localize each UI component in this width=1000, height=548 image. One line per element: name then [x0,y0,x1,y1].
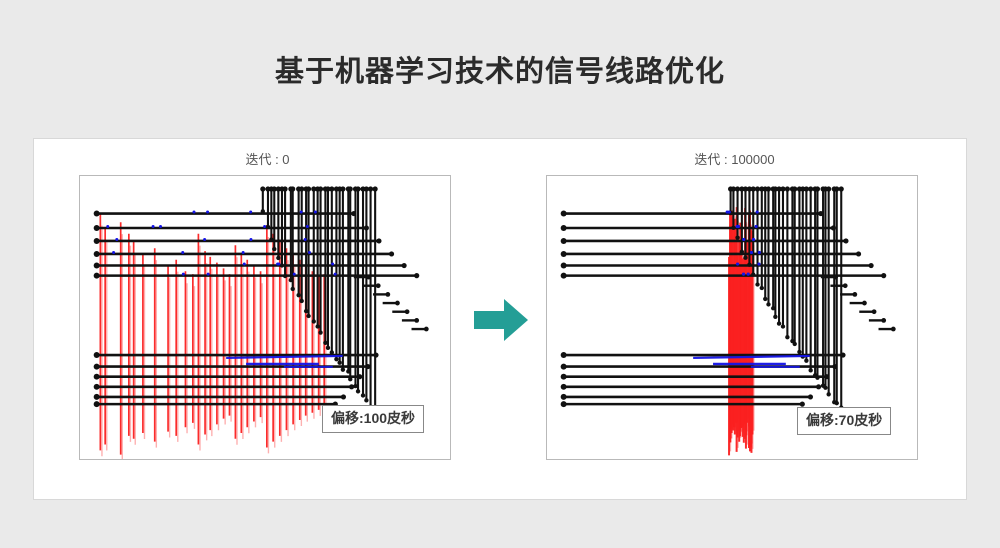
plot-marker [318,186,323,191]
plot-marker [777,321,781,325]
plot-marker [872,309,877,314]
plot-marker [272,247,276,251]
plot-marker [193,211,196,214]
x-axis-tick-mark [117,459,118,460]
plot-marker [763,297,767,301]
y-axis-tick-mark [546,263,547,264]
plot-marker [561,401,567,407]
plot-marker [355,186,360,191]
plot-marker [742,238,745,241]
panel-title-left: 迭代 : 0 [34,149,501,168]
plot-marker [881,318,886,323]
plot-marker [832,364,837,369]
plot-marker [852,292,857,297]
plot-marker [816,384,821,389]
plot-marker [326,346,330,350]
page-title: 基于机器学习技术的信号线路优化 [0,52,1000,92]
plot-marker [376,283,381,288]
y-axis-tick-mark [79,437,80,438]
plot-marker [115,238,118,241]
plot-marker [106,225,109,228]
plot-marker [329,186,334,191]
panel-iteration-100000: 迭代 : 100000 4002000-200-400-4200-4000-38… [501,139,968,501]
plot-marker [755,282,759,286]
plot-marker [389,251,394,256]
plot-marker [742,273,745,276]
plot-marker [349,384,354,389]
plot-marker [839,186,844,191]
x-axis-tick-mark [658,459,659,460]
plot-marker [561,263,567,269]
plot-marker [291,287,295,291]
plot-marker [756,210,759,213]
plot-marker [818,211,823,216]
plot-marker [561,394,567,400]
plot-marker [840,352,845,357]
plot-marker [561,374,567,380]
plot-marker [835,401,839,405]
plot-marker [94,384,100,390]
plot-marker [561,384,567,390]
plot-marker [94,263,100,269]
plot-marker [757,262,760,265]
plot-marker [773,315,777,319]
plot-marker [94,394,100,400]
x-axis-tick-mark [266,459,267,460]
plot-marker [402,263,407,268]
plot-marker [843,283,848,288]
plot-marker [561,238,567,244]
x-axis-tick-mark [807,459,808,460]
plot-marker [834,186,839,191]
plot-marker [260,186,265,191]
plot-marker [797,350,801,354]
plot-marker [856,251,861,256]
plot-marker [306,225,309,228]
y-axis-tick-mark [546,437,547,438]
plot-marker [206,211,209,214]
y-axis-tick-mark [79,321,80,322]
plot-marker [340,186,345,191]
y-axis-tick-mark [79,205,80,206]
y-axis-tick-mark [546,379,547,380]
plot-marker [561,273,567,279]
x-axis-tick-mark [584,459,585,460]
plot-marker [750,251,753,254]
plot-marker [249,238,252,241]
plot-marker [808,394,813,399]
plot-marker [94,374,100,380]
plot-marker [159,225,162,228]
plot-marker [94,225,100,231]
panel-title-right: 迭代 : 100000 [501,149,968,168]
plot-marker [351,211,356,216]
plot-marker [94,273,100,279]
plot-marker [94,238,100,244]
plot-marker [373,186,378,191]
plot-marker [94,364,100,370]
plot-marker [752,238,755,241]
plot-marker [373,352,378,357]
plot-marker [277,263,280,266]
plot-marker [760,286,764,290]
plot-marker [361,393,365,397]
x-axis-tick-mark [191,459,192,460]
plot-marker [743,256,747,260]
plot-marker [766,302,770,306]
annotation-offset-right: 偏移:70皮秒 [797,407,891,435]
plot-marker [293,273,296,276]
plot-marker [249,211,252,214]
plot-marker [766,186,771,191]
plot-marker [276,256,280,260]
y-axis-tick-mark [79,379,80,380]
x-axis-tick-mark [340,459,341,460]
plot-marker [891,327,896,332]
plot-marker [785,186,790,191]
plot-marker [364,398,368,402]
plot-marker [561,225,567,231]
plot-marker [318,330,322,334]
plot-marker [824,374,829,379]
plot-marker [334,273,337,276]
plot-marker [348,186,353,191]
plot-marker [395,301,400,306]
plot-marker [804,358,808,362]
plot-marker [203,238,206,241]
plot-marker [306,186,311,191]
plot-marker [300,299,304,303]
y-axis-tick-mark [546,321,547,322]
plot-marker [290,186,295,191]
plot-marker [282,186,287,191]
plot-marker [312,319,316,323]
annotation-offset-left: 偏移:100皮秒 [322,405,424,433]
plot-marker [758,251,761,254]
plot-marker [561,364,567,370]
plot-marker [364,225,369,230]
plot-marker [341,367,345,371]
plot-marker [781,324,785,328]
plot-marker [808,368,812,372]
plot-marker [182,273,185,276]
plot-marker [815,186,820,191]
plot-marker [331,263,334,266]
x-axis-tick-mark [414,459,415,460]
plot-marker [780,186,785,191]
plot-marker [385,292,390,297]
plot-marker [368,186,373,191]
plot-marker [300,211,303,214]
panel-iteration-0: 迭代 : 0 4002000-200-400-4200-4000-3800-36… [34,139,501,501]
plot-marker [366,275,371,280]
plot-marker [314,211,317,214]
plot-marker [414,273,419,278]
plot-marker [862,301,867,306]
plot-marker [826,392,830,396]
plot-marker [736,225,739,228]
y-axis-tick-mark [79,263,80,264]
plot-marker [755,225,758,228]
plot-marker [341,394,346,399]
plot-marker [823,386,827,390]
plot-marker [207,273,210,276]
plot-marker [94,401,100,407]
plot-marker [735,235,739,239]
plot-marker [405,309,410,314]
plot-marker [747,273,750,276]
x-axis-tick-mark [733,459,734,460]
plot-marker [881,273,886,278]
plot-marker [561,352,567,358]
plot-marker [337,361,341,365]
plot-marker [726,210,729,213]
plot-marker [181,251,184,254]
plot-marker [414,318,419,323]
plot-marker [296,293,300,297]
plot-marker [376,238,381,243]
plot-marker [826,186,831,191]
plot-marker [833,275,838,280]
plot-marker [785,335,789,339]
plot-marker [357,374,362,379]
plot-marker [94,352,100,358]
plot-marker [424,327,429,332]
plot-marker [800,402,805,407]
plot-marker [112,251,115,254]
plot-marker [365,364,370,369]
plot-marker [94,211,100,217]
plot-marker [356,389,360,393]
plot-marker [561,251,567,257]
plot-marker [792,186,797,191]
plot-marker [94,251,100,257]
plot-marker [561,211,567,217]
plot-marker [243,263,246,266]
plot-marker [306,314,310,318]
figure-card: 迭代 : 0 4002000-200-400-4200-4000-3800-36… [33,138,967,500]
plot-marker [831,225,836,230]
plot-marker [315,324,319,328]
plot-marker [263,225,266,228]
plot-marker [793,342,797,346]
plot-marker [843,238,848,243]
x-axis-tick-mark [881,459,882,460]
plot-marker [334,357,338,361]
y-axis-tick-mark [546,205,547,206]
plot-marker [299,186,304,191]
plot-marker [242,251,245,254]
plot-marker [869,263,874,268]
plot-marker [152,225,155,228]
plot-marker [808,186,813,191]
plot-marker [736,262,739,265]
plot-marker [304,238,307,241]
plot-marker [308,251,311,254]
